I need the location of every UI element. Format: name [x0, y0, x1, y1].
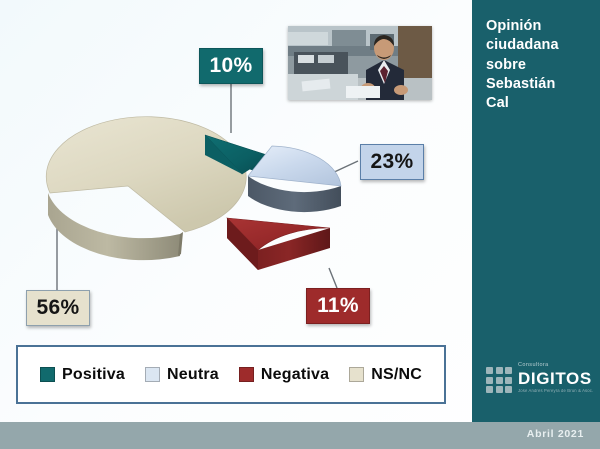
legend-swatch-neutra [145, 367, 160, 382]
callout-negativa: 11% [306, 288, 370, 324]
title-line-4: Sebastián [486, 75, 594, 94]
legend-swatch-nsnc [349, 367, 364, 382]
chart-legend: Positiva Neutra Negativa NS/NC [16, 345, 446, 404]
brand-logo: Consultora DIGITOS José Andrés Pereyra d… [486, 361, 596, 403]
title-panel: Opinión ciudadana sobre Sebastián Cal Co… [472, 0, 600, 422]
pie-slice-negativa [227, 218, 330, 270]
legend-label-neutra: Neutra [167, 366, 219, 384]
grid-squares-icon [486, 367, 512, 393]
legend-item-positiva: Positiva [40, 366, 125, 384]
legend-item-nsnc: NS/NC [349, 366, 422, 384]
callout-positiva: 10% [199, 48, 263, 84]
title-line-2: ciudadana [486, 36, 594, 55]
footer-bar: Abril 2021 [0, 422, 600, 449]
callout-neutra: 23% [360, 144, 424, 180]
logo-text: Consultora DIGITOS José Andrés Pereyra d… [518, 363, 598, 394]
legend-label-negativa: Negativa [261, 366, 329, 384]
logo-superscript: Consultora [518, 363, 598, 369]
legend-label-positiva: Positiva [62, 366, 125, 384]
page-title: Opinión ciudadana sobre Sebastián Cal [486, 17, 594, 113]
title-line-3: sobre [486, 56, 594, 75]
legend-item-negativa: Negativa [239, 366, 329, 384]
slide-canvas: 10% 23% 11% 56% [0, 0, 600, 449]
title-line-5: Cal [486, 94, 594, 113]
footer-date: Abril 2021 [527, 428, 584, 440]
legend-label-nsnc: NS/NC [371, 366, 422, 384]
logo-tagline: José Andrés Pereyra de Brun & Asoc. [518, 389, 598, 393]
pie-slice-nsnc [46, 117, 246, 260]
legend-swatch-negativa [239, 367, 254, 382]
logo-name: DIGITOS [518, 370, 598, 388]
legend-swatch-positiva [40, 367, 55, 382]
callout-nsnc: 56% [26, 290, 90, 326]
legend-item-neutra: Neutra [145, 366, 219, 384]
title-line-1: Opinión [486, 17, 594, 36]
portrait-photo [288, 26, 432, 100]
